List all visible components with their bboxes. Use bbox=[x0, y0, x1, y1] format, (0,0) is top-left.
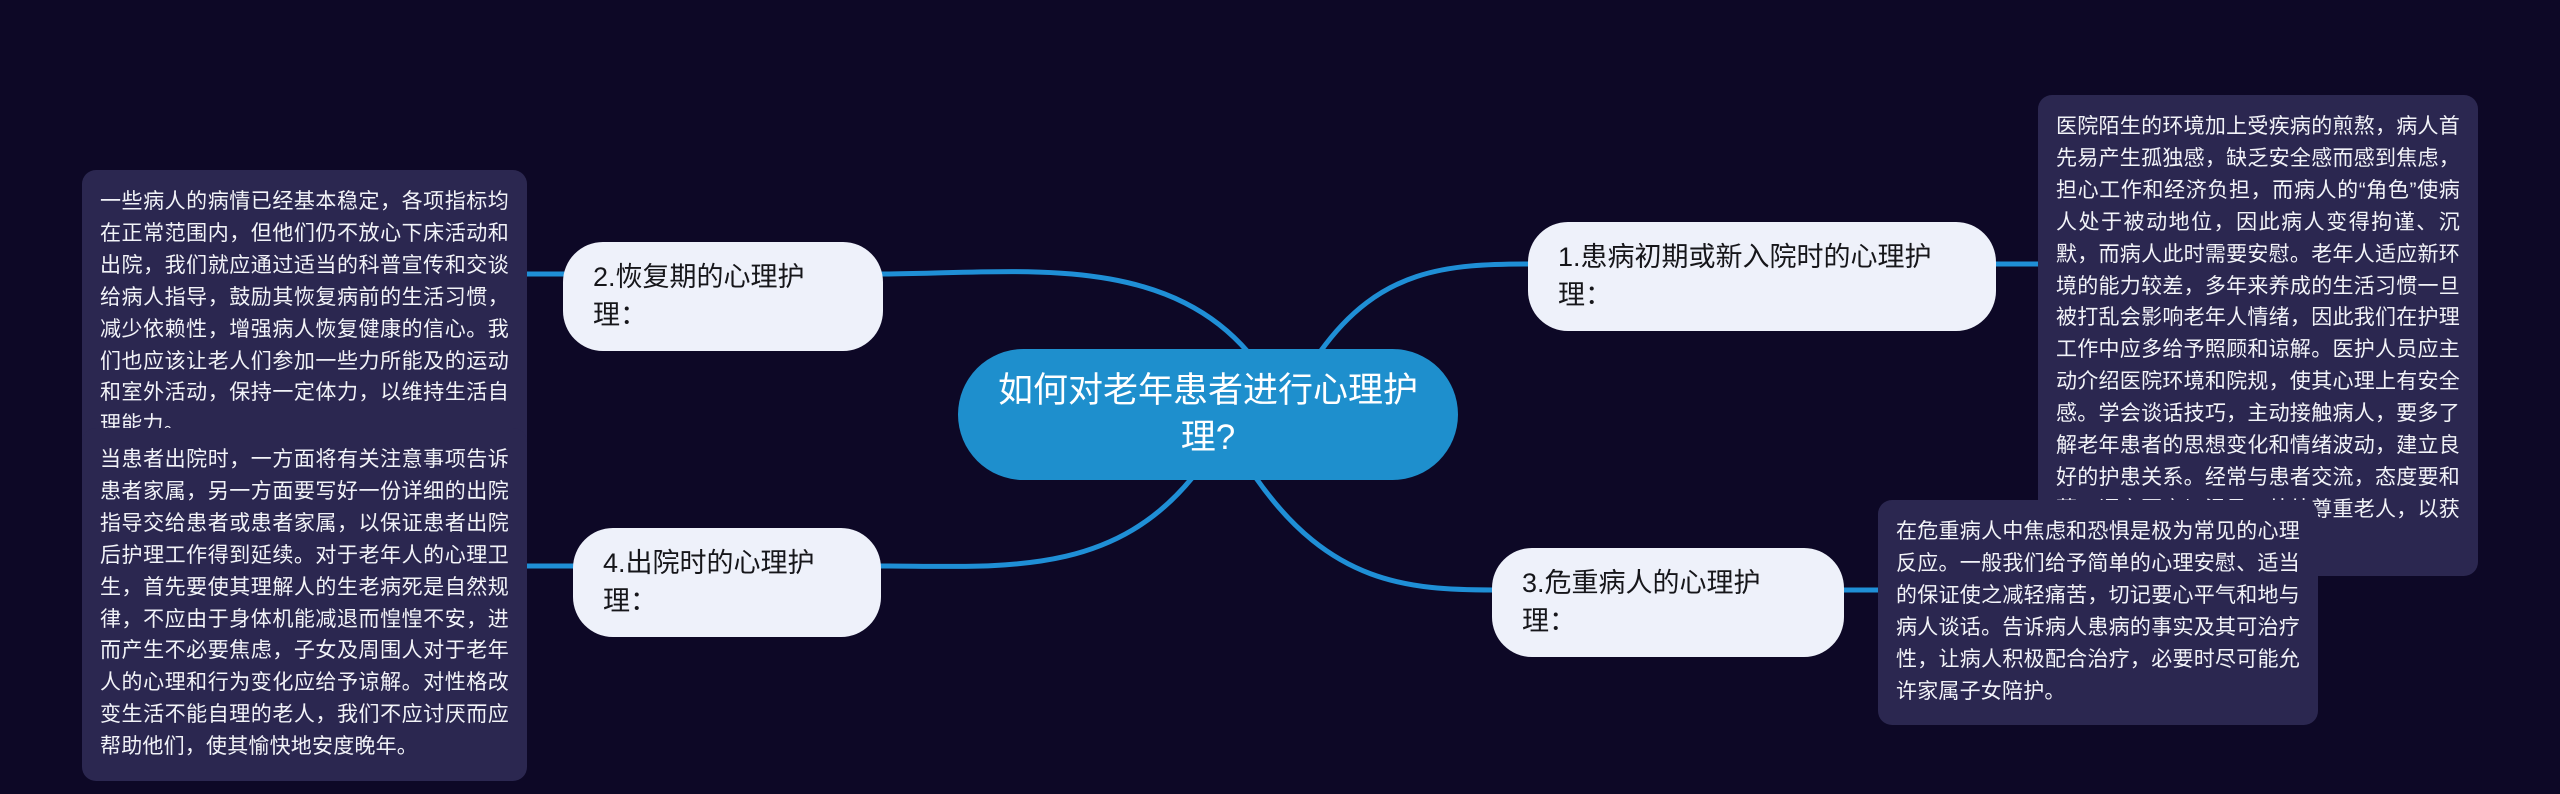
detail-panel-branch-4: 当患者出院时，一方面将有关注意事项告诉患者家属，另一方面要写好一份详细的出院指导… bbox=[82, 428, 527, 781]
branch-node-2[interactable]: 2.恢复期的心理护理： bbox=[563, 242, 883, 351]
branch-node-3[interactable]: 3.危重病人的心理护理： bbox=[1492, 548, 1844, 657]
central-topic-node[interactable]: 如何对老年患者进行心理护理? bbox=[958, 349, 1458, 480]
mindmap-canvas: 一些病人的病情已经基本稳定，各项指标均在正常范围内，但他们仍不放心下床活动和出院… bbox=[0, 0, 2560, 794]
detail-panel-branch-3: 在危重病人中焦虑和恐惧是极为常见的心理反应。一般我们给予简单的心理安慰、适当的保… bbox=[1878, 500, 2318, 725]
connector-center-to-branch-3 bbox=[1256, 478, 1494, 590]
connector-center-to-branch-2 bbox=[880, 272, 1248, 352]
connector-center-to-branch-1 bbox=[1320, 264, 1530, 352]
branch-node-1[interactable]: 1.患病初期或新入院时的心理护理： bbox=[1528, 222, 1996, 331]
connector-center-to-branch-4 bbox=[880, 478, 1192, 566]
detail-panel-branch-2: 一些病人的病情已经基本稳定，各项指标均在正常范围内，但他们仍不放心下床活动和出院… bbox=[82, 170, 527, 459]
branch-node-4[interactable]: 4.出院时的心理护理： bbox=[573, 528, 881, 637]
